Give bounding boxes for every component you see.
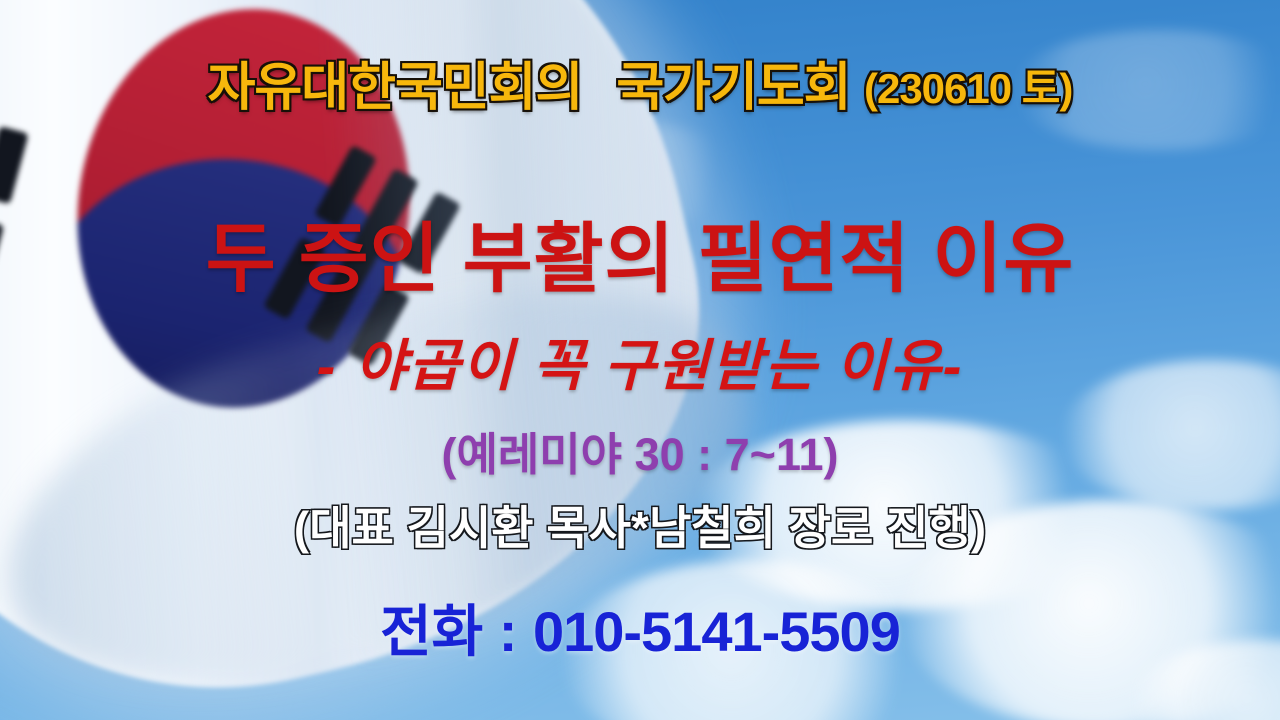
sermon-subtitle: - 야곱이 꼭 구원받는 이유- [0,338,1280,394]
sermon-title: 두 증인 부활의 필연적 이유 [0,222,1280,298]
header-banner: 자유대한국민회의국가기도회 (230610 토) [0,62,1280,114]
contact-line: 전화 : 010-5141-5509 [0,604,1280,660]
presenter-credits: (대표 김시환 목사*남철희 장로 진행) [0,505,1280,551]
slide-canvas: 자유대한국민회의국가기도회 (230610 토) 두 증인 부활의 필연적 이유… [0,0,1280,720]
phone-label: 전화 : [380,600,533,663]
scripture-reference: (예레미야 30 : 7~11) [0,432,1280,477]
event-name: 국가기도회 [616,59,850,117]
event-date: (230610 토) [864,65,1072,112]
phone-number: 010-5141-5509 [533,600,900,663]
organization-name: 자유대한국민회의 [208,59,583,117]
